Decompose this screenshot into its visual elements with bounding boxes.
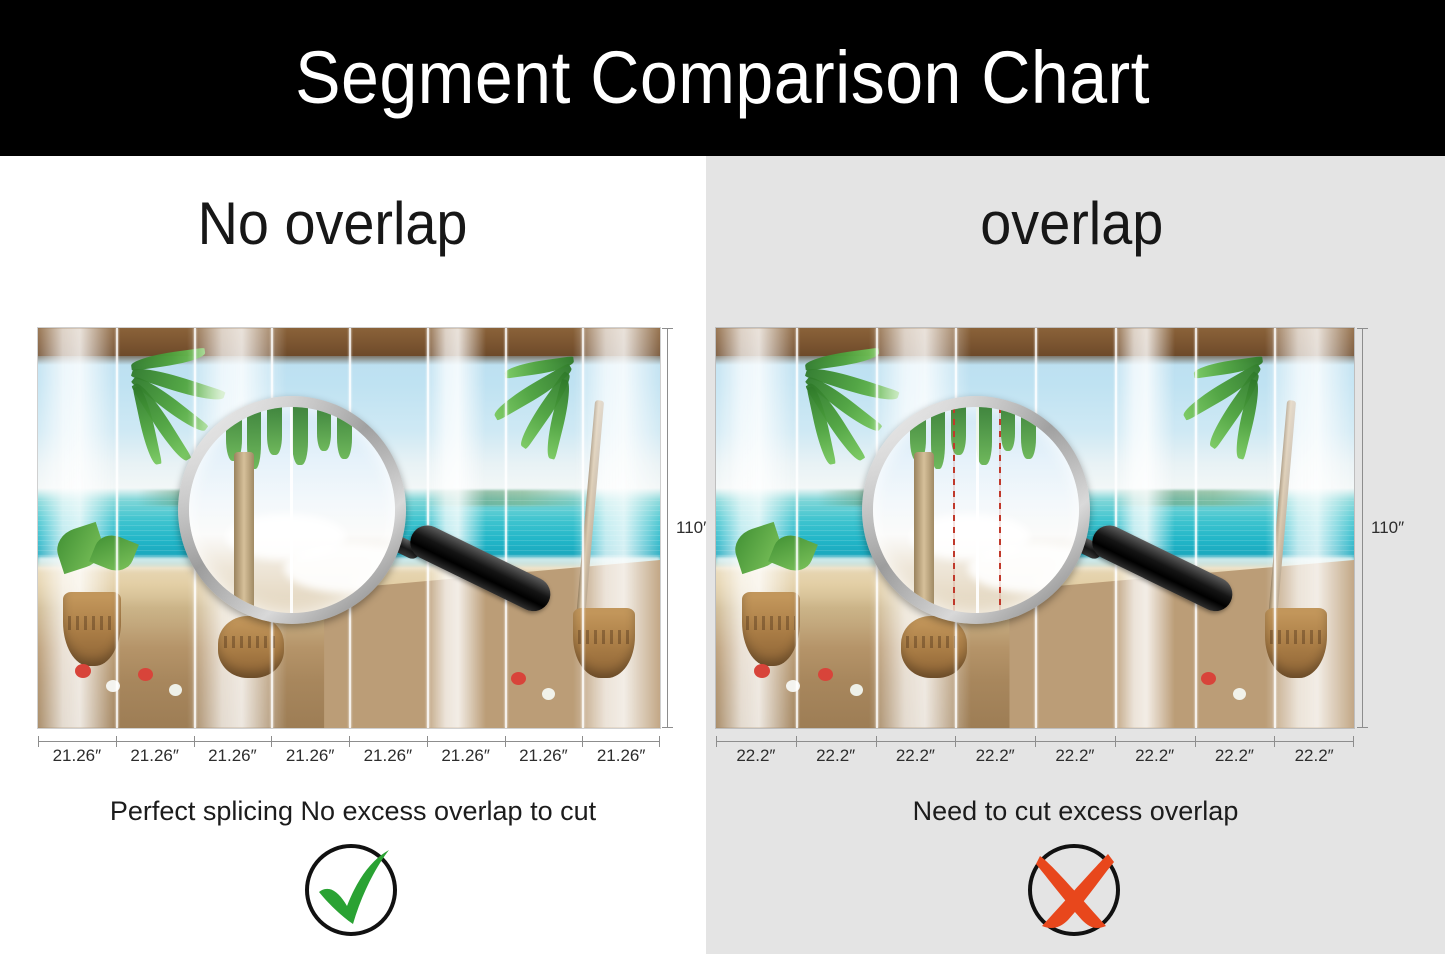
segment-label: 21.26″ (427, 746, 505, 766)
segment-label: 21.26″ (116, 746, 194, 766)
panels-container: No overlap (0, 156, 1445, 954)
planter-mid (218, 616, 284, 678)
green-check-icon (297, 840, 409, 940)
flower-cluster-4 (850, 684, 863, 696)
panel-heading-overlap: overlap (732, 194, 1419, 254)
wooden-beam (38, 328, 660, 356)
flower-cluster-6 (1233, 688, 1246, 700)
flower-cluster-3 (818, 668, 833, 681)
backdrop-artwork-no-overlap (38, 328, 660, 728)
segment-label: 21.26″ (194, 746, 272, 766)
segment-label: 22.2″ (876, 746, 956, 766)
height-label: 110″ (676, 518, 709, 538)
segment-label: 22.2″ (1035, 746, 1115, 766)
verdict-overlap (706, 840, 1445, 940)
beach-backdrop-image (38, 328, 660, 728)
segment-label: 22.2″ (1115, 746, 1195, 766)
segment-label: 22.2″ (796, 746, 876, 766)
segment-label: 21.26″ (582, 746, 660, 766)
panel-heading-no-overlap: No overlap (25, 194, 682, 254)
segment-label: 21.26″ (38, 746, 116, 766)
segment-dimensions-overlap: 22.2″ 22.2″ 22.2″ 22.2″ 22.2″ 22.2″ 22.2… (716, 736, 1354, 762)
title-banner: Segment Comparison Chart (0, 0, 1445, 156)
flower-cluster-6 (542, 688, 555, 700)
planter-left (742, 592, 800, 666)
height-label: 110″ (1371, 518, 1404, 538)
segment-label: 22.2″ (1195, 746, 1275, 766)
flower-cluster-5 (1201, 672, 1216, 685)
caption-overlap: Need to cut excess overlap (706, 798, 1445, 825)
segment-label: 22.2″ (716, 746, 796, 766)
verdict-no-overlap (0, 840, 730, 940)
planter-right (1265, 608, 1327, 678)
segment-label: 21.26″ (505, 746, 583, 766)
segment-dimensions-no-overlap: 21.26″ 21.26″ 21.26″ 21.26″ 21.26″ 21.26… (38, 736, 660, 762)
segment-label-row-no-overlap: 21.26″ 21.26″ 21.26″ 21.26″ 21.26″ 21.26… (38, 746, 660, 766)
caption-no-overlap: Perfect splicing No excess overlap to cu… (0, 798, 706, 825)
panel-no-overlap: No overlap (0, 156, 706, 954)
segment-label: 22.2″ (1274, 746, 1354, 766)
backdrop-artwork-overlap (716, 328, 1354, 728)
curtain-3 (1112, 328, 1176, 728)
red-cross-icon (1020, 840, 1132, 940)
segment-label: 22.2″ (955, 746, 1035, 766)
curtain-3 (424, 328, 486, 728)
beach-backdrop-image (716, 328, 1354, 728)
wooden-beam (716, 328, 1354, 356)
panel-overlap: overlap (706, 156, 1445, 954)
flower-cluster-5 (511, 672, 526, 685)
segment-label: 21.26″ (349, 746, 427, 766)
segment-label-row-overlap: 22.2″ 22.2″ 22.2″ 22.2″ 22.2″ 22.2″ 22.2… (716, 746, 1354, 766)
planter-mid (901, 616, 967, 678)
comparison-chart-page: Segment Comparison Chart No overlap (0, 0, 1445, 954)
flower-cluster-3 (138, 668, 153, 681)
page-title: Segment Comparison Chart (295, 41, 1150, 115)
segment-label: 21.26″ (271, 746, 349, 766)
flower-cluster-4 (169, 684, 182, 696)
